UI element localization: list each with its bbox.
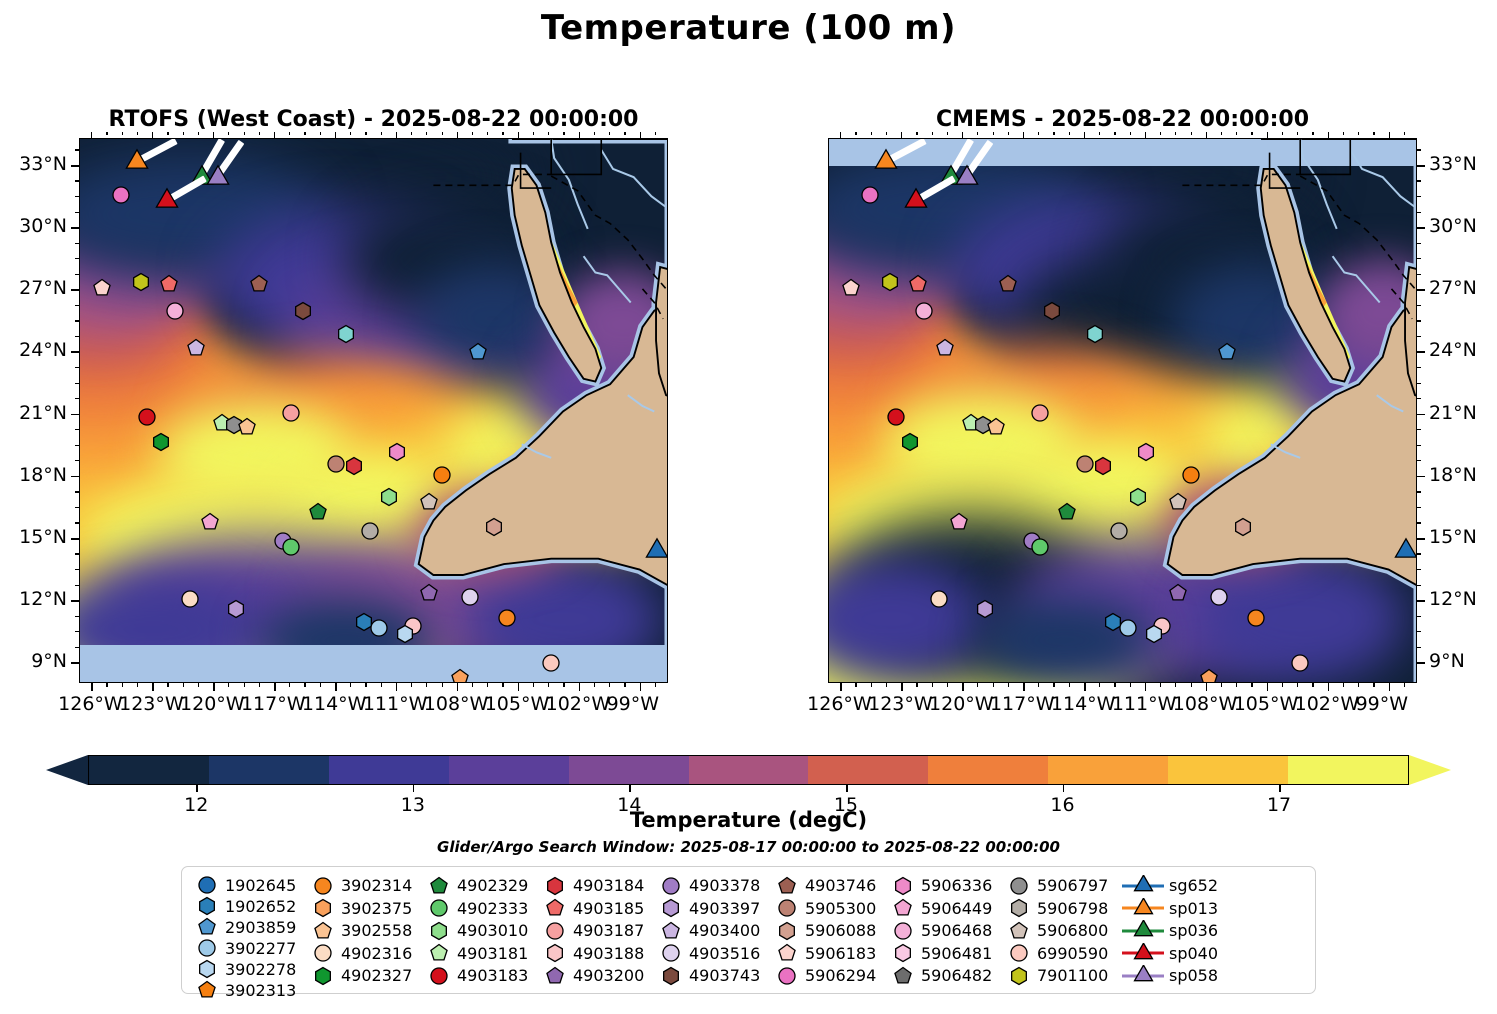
- pentagon-marker-icon: [772, 876, 802, 896]
- lon-top-tick: [335, 132, 336, 138]
- lon-tick-label: 102°W: [546, 693, 611, 715]
- lon-tick-label: 105°W: [485, 693, 550, 715]
- lon-top-tick: [1404, 132, 1405, 135]
- legend-item-label: 4903397: [686, 899, 760, 918]
- argo-float-marker[interactable]: [159, 274, 179, 294]
- legend-item-5906449[interactable]: 5906449: [888, 898, 1004, 920]
- lon-minor-tick: [624, 683, 625, 687]
- argo-float-marker[interactable]: [293, 301, 313, 321]
- lon-top-tick: [579, 132, 580, 138]
- argo-float-marker[interactable]: [281, 537, 301, 557]
- pentagon-marker-icon: [308, 921, 338, 941]
- lat-tick-label: 33°N: [1429, 153, 1477, 175]
- legend-item-3902375[interactable]: 3902375: [308, 898, 424, 920]
- lat-tick: [71, 165, 79, 167]
- colorbar-segment: [89, 756, 209, 784]
- legend-item-4903010[interactable]: 4903010: [424, 920, 540, 942]
- legend-item-4903187[interactable]: 4903187: [540, 920, 656, 942]
- argo-float-marker[interactable]: [1209, 587, 1229, 607]
- glider-marker[interactable]: [155, 189, 179, 213]
- lon-top-tick: [1312, 132, 1313, 135]
- colorbar-tick: [629, 785, 631, 792]
- argo-float-marker[interactable]: [137, 407, 157, 427]
- circle-marker-icon: [1004, 876, 1034, 896]
- legend-item-label: 4903743: [686, 966, 760, 985]
- lat-tick: [1417, 414, 1425, 416]
- hexagon-marker-icon: [1004, 898, 1034, 918]
- legend-item-label: 1902652: [222, 897, 296, 916]
- lon-minor-tick: [594, 683, 595, 687]
- lon-tick-label: 120°W: [929, 693, 994, 715]
- lon-top-tick: [122, 132, 123, 135]
- lon-top-tick: [609, 132, 610, 135]
- lat-minor-tick: [75, 243, 79, 244]
- argo-float-marker[interactable]: [249, 274, 269, 294]
- argo-float-marker[interactable]: [935, 338, 955, 358]
- lat-minor-tick: [75, 398, 79, 399]
- legend-item-4903400[interactable]: 4903400: [656, 920, 772, 942]
- argo-float-marker[interactable]: [949, 512, 969, 532]
- hexagon-marker-icon: [540, 943, 570, 963]
- argo-float-marker[interactable]: [860, 185, 880, 205]
- argo-float-marker[interactable]: [131, 272, 151, 292]
- legend-item-3902278[interactable]: 3902278: [192, 959, 308, 979]
- argo-float-marker[interactable]: [460, 587, 480, 607]
- legend-item-label: sp013: [1166, 899, 1218, 918]
- lon-top-tick: [640, 132, 641, 138]
- argo-float-marker[interactable]: [1181, 465, 1201, 485]
- argo-float-marker[interactable]: [1085, 324, 1105, 344]
- triangle-marker-icon: [1120, 898, 1166, 919]
- legend-item-label: 5906449: [918, 899, 992, 918]
- lon-minor-tick: [381, 683, 382, 687]
- lon-minor-tick: [947, 683, 948, 687]
- lon-minor-tick: [1099, 683, 1100, 687]
- colorbar-segment: [1288, 756, 1408, 784]
- argo-float-marker[interactable]: [344, 456, 364, 476]
- colorbar-segment: [449, 756, 569, 784]
- lon-minor-tick: [350, 683, 351, 687]
- lon-top-tick: [1069, 132, 1070, 135]
- argo-float-marker[interactable]: [497, 608, 517, 628]
- legend-item-4903746[interactable]: 4903746: [772, 875, 888, 897]
- hexagon-marker-icon: [772, 921, 802, 941]
- legend-item-label: 4903184: [570, 876, 644, 895]
- colorbar-segment: [1048, 756, 1168, 784]
- lat-tick: [1417, 476, 1425, 478]
- argo-float-marker[interactable]: [484, 517, 504, 537]
- legend-item-4903184[interactable]: 4903184: [540, 875, 656, 897]
- argo-float-marker[interactable]: [1144, 624, 1164, 644]
- lon-minor-tick: [122, 683, 123, 687]
- legend-item-label: 4903188: [570, 944, 644, 963]
- legend-column: 1902645190265229038593902277390227839023…: [192, 875, 308, 987]
- legend-item-label: 4903378: [686, 876, 760, 895]
- lon-top-tick: [1221, 132, 1222, 135]
- legend-item-4903188[interactable]: 4903188: [540, 943, 656, 965]
- land-and-coastline-layer: [80, 139, 668, 683]
- legend-item-2903859[interactable]: 2903859: [192, 917, 308, 937]
- legend-item-4903743[interactable]: 4903743: [656, 965, 772, 987]
- lat-minor-tick: [1417, 429, 1421, 430]
- lon-top-tick: [152, 132, 153, 138]
- lat-minor-tick: [1417, 305, 1421, 306]
- argo-float-marker[interactable]: [165, 301, 185, 321]
- lat-tick: [71, 476, 79, 478]
- legend-item-1902652[interactable]: 1902652: [192, 896, 308, 916]
- lon-top-tick: [518, 132, 519, 138]
- lon-top-tick: [1175, 132, 1176, 135]
- lon-tick: [274, 683, 276, 691]
- argo-float-marker[interactable]: [326, 454, 346, 474]
- lon-minor-tick: [916, 683, 917, 687]
- legend-column: 39023143902375390255849023164902327: [308, 875, 424, 987]
- lat-tick-label: 27°N: [1429, 277, 1477, 299]
- lon-top-tick: [1297, 132, 1298, 135]
- lon-top-tick: [426, 132, 427, 135]
- legend-item-label: 4902327: [338, 966, 412, 985]
- legend-item-label: sg652: [1166, 876, 1218, 895]
- legend-item-5906481[interactable]: 5906481: [888, 943, 1004, 965]
- lon-tick: [152, 683, 154, 691]
- lon-tick: [1328, 683, 1330, 691]
- legend-item-label: 5906088: [802, 921, 876, 940]
- legend-item-sp013[interactable]: sp013: [1120, 898, 1220, 920]
- argo-float-marker[interactable]: [914, 301, 934, 321]
- argo-float-marker[interactable]: [432, 465, 452, 485]
- legend-item-label: 4903200: [570, 966, 644, 985]
- lon-minor-tick: [1175, 683, 1176, 687]
- lat-tick: [1417, 351, 1425, 353]
- map-panel-cmems: CMEMS - 2025-08-22 00:00:00: [828, 138, 1417, 683]
- colorbar-tick: [1063, 785, 1065, 792]
- lat-minor-tick: [75, 320, 79, 321]
- argo-float-marker[interactable]: [908, 274, 928, 294]
- argo-float-marker[interactable]: [92, 278, 112, 298]
- legend-item-5906482[interactable]: 5906482: [888, 965, 1004, 987]
- argo-float-marker[interactable]: [419, 492, 439, 512]
- lon-tick: [335, 683, 337, 691]
- argo-float-marker[interactable]: [886, 407, 906, 427]
- lon-minor-tick: [1373, 683, 1374, 687]
- lon-tick-label: 126°W: [58, 693, 123, 715]
- argo-float-marker[interactable]: [998, 274, 1018, 294]
- argo-float-marker[interactable]: [180, 589, 200, 609]
- glider-marker[interactable]: [874, 150, 898, 174]
- pentagon-marker-icon: [1004, 921, 1034, 941]
- argo-float-marker[interactable]: [1168, 492, 1188, 512]
- legend-item-label: 5906482: [918, 966, 992, 985]
- circle-marker-icon: [308, 943, 338, 963]
- argo-float-marker[interactable]: [1290, 653, 1310, 673]
- legend-item-label: 5906797: [1034, 876, 1108, 895]
- lon-minor-tick: [1114, 683, 1115, 687]
- lon-tick-label: 108°W: [424, 693, 489, 715]
- map-frame-cmems[interactable]: [828, 138, 1417, 683]
- lat-minor-tick: [75, 180, 79, 181]
- lat-minor-tick: [75, 336, 79, 337]
- argo-float-marker[interactable]: [369, 618, 389, 638]
- lon-tick-label: 114°W: [302, 693, 367, 715]
- argo-float-marker[interactable]: [200, 512, 220, 532]
- glider-marker[interactable]: [125, 150, 149, 174]
- legend-item-3902558[interactable]: 3902558: [308, 920, 424, 942]
- lon-top-tick: [1145, 132, 1146, 138]
- legend-column: 49033784903397490340049035164903743: [656, 875, 772, 987]
- lon-top-tick: [1267, 132, 1268, 138]
- lon-tick-label: 114°W: [1051, 693, 1116, 715]
- lon-top-tick: [259, 132, 260, 135]
- legend-item-4903397[interactable]: 4903397: [656, 898, 772, 920]
- argo-float-marker[interactable]: [541, 653, 561, 673]
- lat-minor-tick: [75, 383, 79, 384]
- lat-minor-tick: [1417, 336, 1421, 337]
- lon-top-tick: [442, 132, 443, 135]
- lat-tick-label: 18°N: [1429, 464, 1477, 486]
- lon-tick: [213, 683, 215, 691]
- legend-item-5906798[interactable]: 5906798: [1004, 898, 1120, 920]
- glider-marker[interactable]: [1394, 539, 1417, 563]
- legend-item-label: 4903185: [570, 899, 644, 918]
- argo-float-marker[interactable]: [986, 417, 1006, 437]
- legend-item-label: 3902314: [338, 876, 412, 895]
- argo-float-marker[interactable]: [450, 668, 470, 683]
- argo-float-marker[interactable]: [1057, 502, 1077, 522]
- lon-tick: [91, 683, 93, 691]
- lat-minor-tick: [75, 522, 79, 523]
- argo-float-marker[interactable]: [281, 403, 301, 423]
- lon-top-tick: [381, 132, 382, 135]
- legend-item-4903378[interactable]: 4903378: [656, 875, 772, 897]
- lon-top-tick: [916, 132, 917, 135]
- legend-column: 59067975906798590680069905907901100: [1004, 875, 1120, 987]
- legend-item-4902333[interactable]: 4902333: [424, 898, 540, 920]
- argo-float-marker[interactable]: [360, 521, 380, 541]
- lon-tick-label: 105°W: [1234, 693, 1299, 715]
- legend-item-label: 3902278: [222, 960, 296, 979]
- lon-minor-tick: [426, 683, 427, 687]
- lat-minor-tick: [1417, 460, 1421, 461]
- glider-marker[interactable]: [206, 166, 230, 190]
- lon-top-tick: [533, 132, 534, 135]
- lon-minor-tick: [1251, 683, 1252, 687]
- lon-tick-label: 126°W: [807, 693, 872, 715]
- hexagon-marker-icon: [424, 921, 454, 941]
- argo-float-marker[interactable]: [975, 599, 995, 619]
- platform-legend[interactable]: 1902645190265229038593902277390227839023…: [181, 866, 1316, 994]
- lon-top-tick: [655, 132, 656, 135]
- argo-float-marker[interactable]: [468, 342, 488, 362]
- lon-tick-label: 117°W: [241, 693, 306, 715]
- lon-top-tick: [594, 132, 595, 135]
- legend-item-3902313[interactable]: 3902313: [192, 980, 308, 1000]
- argo-float-marker[interactable]: [226, 599, 246, 619]
- map-panel-rtofs: RTOFS (West Coast) - 2025-08-22 00:00:00: [79, 138, 668, 683]
- pentagon-marker-icon: [192, 980, 222, 1000]
- argo-float-marker[interactable]: [336, 324, 356, 344]
- legend-item-5905300[interactable]: 5905300: [772, 898, 888, 920]
- colorbar-tick: [196, 785, 198, 792]
- legend-item-3902314[interactable]: 3902314: [308, 875, 424, 897]
- legend-item-4903185[interactable]: 4903185: [540, 898, 656, 920]
- lon-minor-tick: [886, 683, 887, 687]
- argo-float-marker[interactable]: [1217, 342, 1237, 362]
- argo-float-marker[interactable]: [186, 338, 206, 358]
- legend-item-label: 5906294: [802, 966, 876, 985]
- lon-top-tick: [365, 132, 366, 135]
- lon-top-tick: [993, 132, 994, 135]
- lon-top-tick: [1038, 132, 1039, 135]
- lon-minor-tick: [932, 683, 933, 687]
- argo-float-marker[interactable]: [1233, 517, 1253, 537]
- argo-float-marker[interactable]: [1109, 521, 1129, 541]
- argo-float-marker[interactable]: [1128, 487, 1148, 507]
- map-frame-rtofs[interactable]: [79, 138, 668, 683]
- lon-top-tick: [91, 132, 92, 138]
- argo-float-marker[interactable]: [1118, 618, 1138, 638]
- argo-float-marker[interactable]: [111, 185, 131, 205]
- legend-item-label: 5906183: [802, 944, 876, 963]
- argo-float-marker[interactable]: [1075, 454, 1095, 474]
- argo-float-marker[interactable]: [1168, 583, 1188, 603]
- lon-top-tick: [350, 132, 351, 135]
- argo-float-marker[interactable]: [900, 432, 920, 452]
- lon-top-tick: [304, 132, 305, 135]
- lon-tick-label: 123°W: [119, 693, 184, 715]
- legend-item-4903516[interactable]: 4903516: [656, 943, 772, 965]
- legend-item-sp040[interactable]: sp040: [1120, 943, 1220, 965]
- legend-item-5906468[interactable]: 5906468: [888, 920, 1004, 942]
- temperature-field-rtofs: [80, 139, 667, 682]
- lat-tick-label: 30°N: [0, 215, 67, 237]
- argo-float-marker[interactable]: [395, 624, 415, 644]
- lon-tick-label: 117°W: [990, 693, 1055, 715]
- legend-item-5906800[interactable]: 5906800: [1004, 920, 1120, 942]
- colorbar: 121314151617: [46, 755, 1451, 785]
- argo-float-marker[interactable]: [880, 272, 900, 292]
- lon-minor-tick: [533, 683, 534, 687]
- lon-minor-tick: [548, 683, 549, 687]
- legend-item-5906797[interactable]: 5906797: [1004, 875, 1120, 897]
- legend-item-4903181[interactable]: 4903181: [424, 943, 540, 965]
- legend-item-5906336[interactable]: 5906336: [888, 875, 1004, 897]
- argo-float-marker[interactable]: [387, 442, 407, 462]
- lon-top-tick: [1373, 132, 1374, 135]
- lon-minor-tick: [1221, 683, 1222, 687]
- lon-minor-tick: [502, 683, 503, 687]
- lon-top-tick: [1084, 132, 1085, 138]
- legend-item-7901100[interactable]: 7901100: [1004, 965, 1120, 987]
- lon-top-tick: [502, 132, 503, 135]
- lon-minor-tick: [855, 683, 856, 687]
- glider-marker[interactable]: [955, 166, 979, 190]
- argo-float-marker[interactable]: [1030, 537, 1050, 557]
- lat-minor-tick: [75, 631, 79, 632]
- argo-float-marker[interactable]: [1136, 442, 1156, 462]
- lon-top-tick: [472, 132, 473, 135]
- colorbar-tick: [846, 785, 848, 792]
- lat-minor-tick: [75, 553, 79, 554]
- legend-item-4903183[interactable]: 4903183: [424, 965, 540, 987]
- legend-item-5906183[interactable]: 5906183: [772, 943, 888, 965]
- legend-item-5906294[interactable]: 5906294: [772, 965, 888, 987]
- lon-tick-label: 99°W: [607, 693, 659, 715]
- lat-minor-tick: [1417, 445, 1421, 446]
- lat-minor-tick: [1417, 383, 1421, 384]
- colorbar-segment: [928, 756, 1048, 784]
- legend-item-label: 5906798: [1034, 899, 1108, 918]
- lon-minor-tick: [977, 683, 978, 687]
- legend-item-label: 5906336: [918, 876, 992, 895]
- lon-top-tick: [228, 132, 229, 135]
- legend-item-4902329[interactable]: 4902329: [424, 875, 540, 897]
- lon-minor-tick: [1069, 683, 1070, 687]
- lon-top-tick: [855, 132, 856, 135]
- lat-tick-label: 9°N: [1429, 650, 1465, 672]
- lat-minor-tick: [1417, 398, 1421, 399]
- lon-tick: [579, 683, 581, 691]
- argo-float-marker[interactable]: [1042, 301, 1062, 321]
- lon-minor-tick: [563, 683, 564, 687]
- legend-item-label: 3902558: [338, 921, 412, 940]
- pentagon-marker-icon: [888, 966, 918, 986]
- legend-item-3902277[interactable]: 3902277: [192, 938, 308, 958]
- argo-float-marker[interactable]: [237, 417, 257, 437]
- lon-top-tick: [213, 132, 214, 138]
- legend-item-4902327[interactable]: 4902327: [308, 965, 424, 987]
- legend-item-5906088[interactable]: 5906088: [772, 920, 888, 942]
- argo-float-marker[interactable]: [419, 583, 439, 603]
- lat-minor-tick: [1417, 320, 1421, 321]
- lat-tick-label: 24°N: [0, 339, 67, 361]
- argo-float-marker[interactable]: [1199, 668, 1219, 683]
- argo-float-marker[interactable]: [929, 589, 949, 609]
- legend-item-4902316[interactable]: 4902316: [308, 943, 424, 965]
- colorbar-tick: [413, 785, 415, 792]
- argo-float-marker[interactable]: [151, 432, 171, 452]
- lon-top-tick: [1191, 132, 1192, 135]
- argo-float-marker[interactable]: [308, 502, 328, 522]
- glider-marker[interactable]: [904, 189, 928, 213]
- lat-minor-tick: [1417, 647, 1421, 648]
- legend-item-6990590[interactable]: 6990590: [1004, 943, 1120, 965]
- legend-item-label: 4903187: [570, 921, 644, 940]
- legend-item-4903200[interactable]: 4903200: [540, 965, 656, 987]
- glider-marker[interactable]: [645, 539, 668, 563]
- argo-float-marker[interactable]: [1246, 608, 1266, 628]
- circle-marker-icon: [308, 876, 338, 896]
- land-and-coastline-layer: [829, 139, 1417, 683]
- lon-top-tick: [1114, 132, 1115, 135]
- lat-minor-tick: [1417, 196, 1421, 197]
- lat-tick-label: 33°N: [0, 153, 67, 175]
- argo-float-marker[interactable]: [1030, 403, 1050, 423]
- lat-minor-tick: [75, 196, 79, 197]
- argo-float-marker[interactable]: [379, 487, 399, 507]
- lon-minor-tick: [1404, 683, 1405, 687]
- lon-top-tick: [320, 132, 321, 135]
- legend-item-sp036[interactable]: sp036: [1120, 920, 1220, 942]
- legend-item-sg652[interactable]: sg652: [1120, 875, 1220, 897]
- legend-item-label: 3902375: [338, 899, 412, 918]
- legend-item-1902645[interactable]: 1902645: [192, 875, 308, 895]
- argo-float-marker[interactable]: [841, 278, 861, 298]
- legend-column-gliders: sg652sp013sp036sp040sp058: [1120, 875, 1220, 987]
- lat-tick-label: 24°N: [1429, 339, 1477, 361]
- lat-minor-tick: [1417, 507, 1421, 508]
- legend-item-sp058[interactable]: sp058: [1120, 965, 1220, 987]
- argo-float-marker[interactable]: [1093, 456, 1113, 476]
